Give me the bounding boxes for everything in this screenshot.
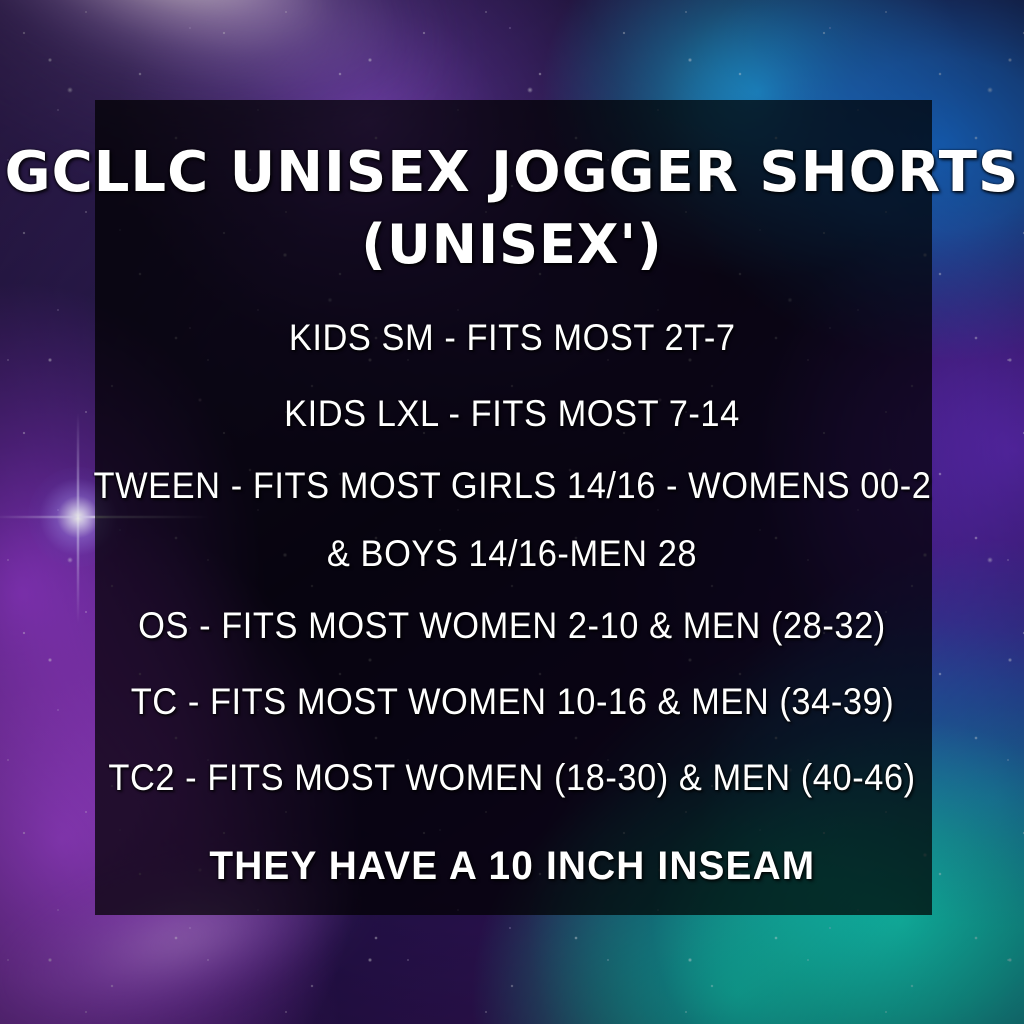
graphic-canvas: GCLLC UNISEX JOGGER SHORTS (UNISEX') KID… [0,0,1024,1024]
sizing-line-kids-lxl: KIDS LXL - FITS MOST 7-14 [284,376,740,452]
sizing-line-tween-part1: TWEEN - FITS MOST GIRLS 14/16 - WOMENS 0… [93,452,931,520]
text-content: GCLLC UNISEX JOGGER SHORTS (UNISEX') KID… [0,0,1024,1024]
sizing-line-kids-sm: KIDS SM - FITS MOST 2T-7 [289,300,736,376]
inseam-note: THEY HAVE A 10 INCH INSEAM [209,832,815,900]
sizing-line-tween: TWEEN - FITS MOST GIRLS 14/16 - WOMENS 0… [62,452,963,588]
page-title: GCLLC UNISEX JOGGER SHORTS [5,136,1020,210]
sizing-line-tc: TC - FITS MOST WOMEN 10-16 & MEN (34-39) [130,664,894,740]
sizing-line-tween-part2: & BOYS 14/16-MEN 28 [327,520,697,588]
sizing-chart-list: KIDS SM - FITS MOST 2T-7 KIDS LXL - FITS… [62,300,963,816]
title-block: GCLLC UNISEX JOGGER SHORTS (UNISEX') [5,136,1020,280]
page-subtitle: (UNISEX') [5,210,1020,280]
sizing-line-tc2: TC2 - FITS MOST WOMEN (18-30) & MEN (40-… [108,740,915,816]
sizing-line-os: OS - FITS MOST WOMEN 2-10 & MEN (28-32) [138,588,886,664]
